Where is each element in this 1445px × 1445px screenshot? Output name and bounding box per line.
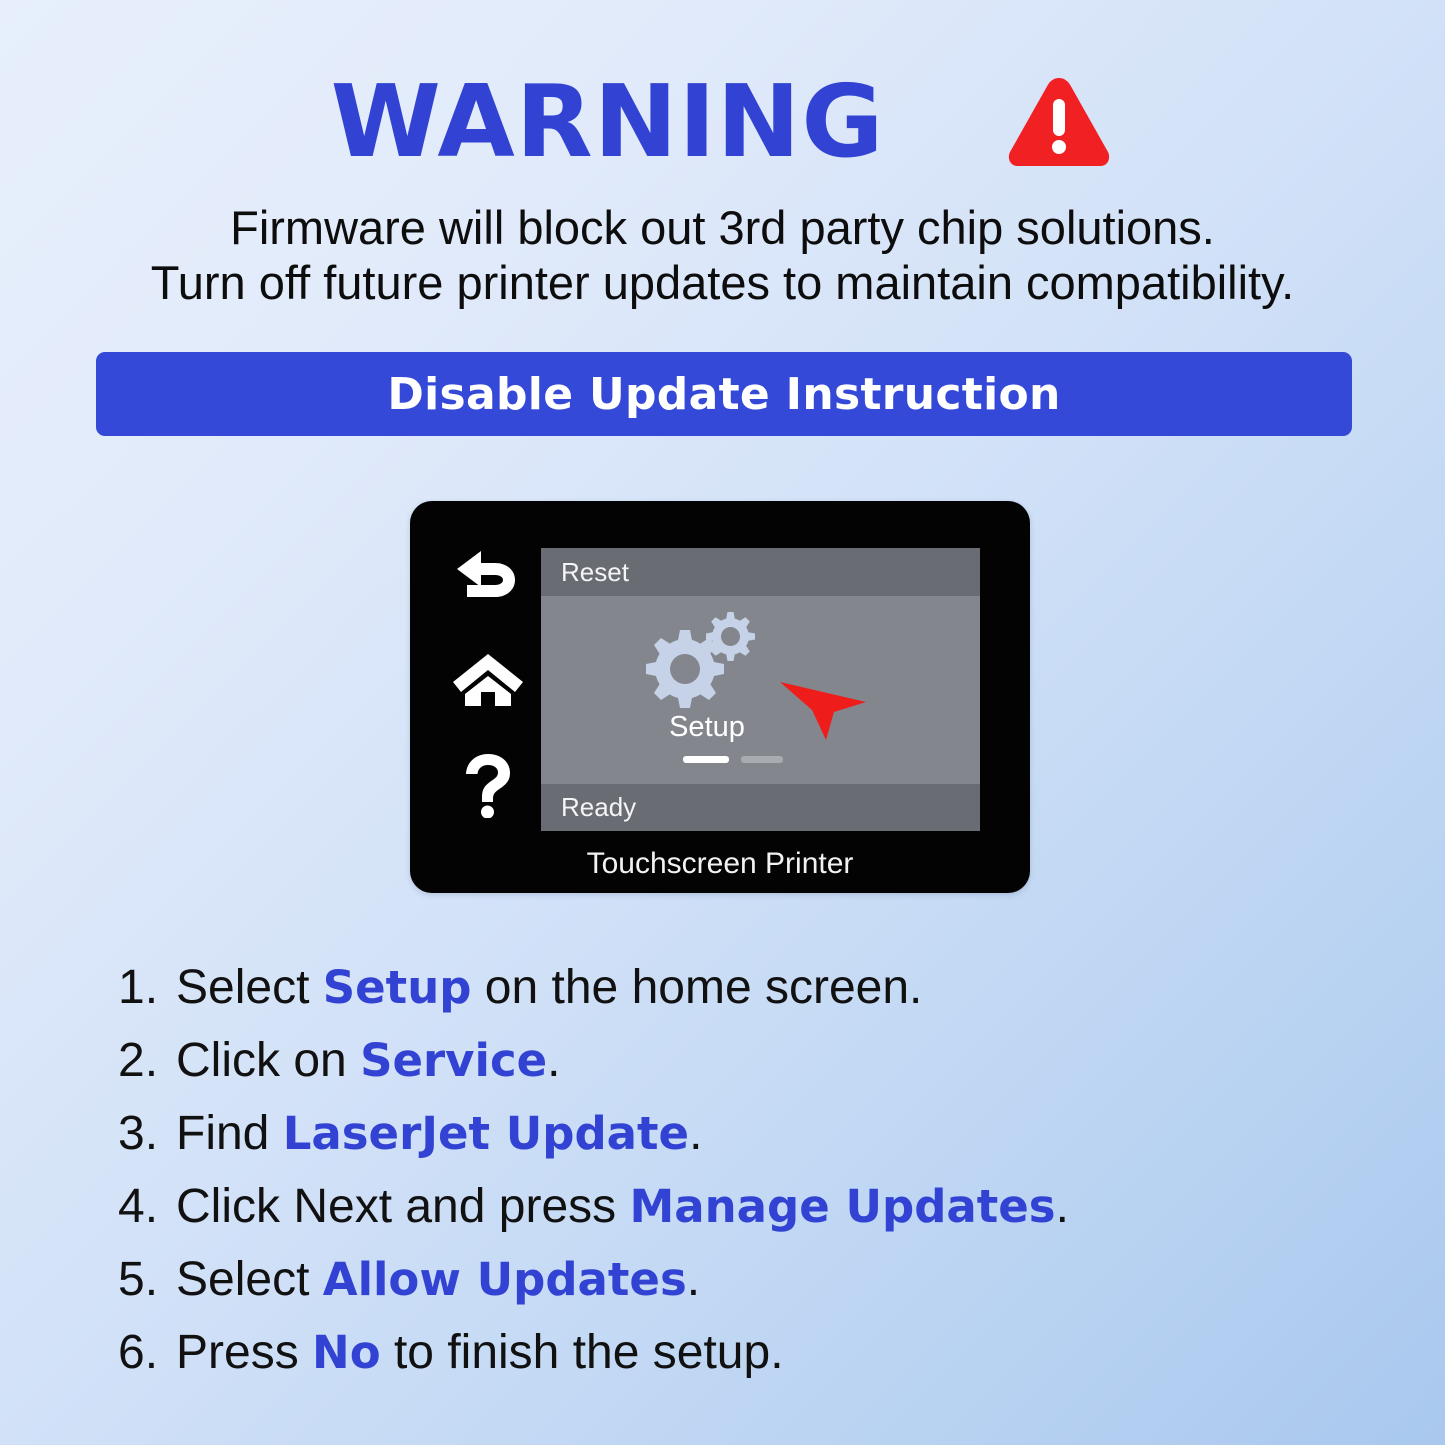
step-text-fragment: Find bbox=[176, 1107, 283, 1160]
step-keyword: Setup bbox=[323, 961, 472, 1014]
step-text: Press No to finish the setup. bbox=[176, 1325, 784, 1380]
pagination-dot-active[interactable] bbox=[683, 756, 729, 763]
step-number: 1. bbox=[118, 960, 176, 1015]
disable-update-instruction-banner[interactable]: Disable Update Instruction bbox=[96, 352, 1352, 436]
back-icon[interactable] bbox=[451, 543, 525, 605]
help-icon[interactable] bbox=[451, 752, 525, 818]
step-text-fragment: . bbox=[687, 1253, 700, 1306]
list-item: 2.Click on Service. bbox=[118, 1033, 1318, 1106]
screen-pagination[interactable] bbox=[683, 756, 813, 763]
step-text-fragment: Click on bbox=[176, 1034, 360, 1087]
step-text-fragment: on the home screen. bbox=[471, 961, 922, 1014]
step-text-fragment: Press bbox=[176, 1326, 312, 1379]
subtitle: Firmware will block out 3rd party chip s… bbox=[0, 200, 1445, 310]
step-text: Click on Service. bbox=[176, 1033, 560, 1088]
page-title: WARNING bbox=[331, 72, 885, 172]
instruction-steps: 1.Select Setup on the home screen.2.Clic… bbox=[118, 960, 1318, 1398]
step-text-fragment: . bbox=[547, 1034, 560, 1087]
setup-tile-label: Setup bbox=[647, 711, 767, 744]
screen-title-bar: Reset bbox=[541, 548, 980, 596]
warning-triangle-icon bbox=[1004, 72, 1114, 172]
step-text-fragment: . bbox=[689, 1107, 702, 1160]
step-keyword: Manage Updates bbox=[630, 1180, 1056, 1233]
step-text-fragment: Click Next and press bbox=[176, 1180, 630, 1233]
device-hardware-keys bbox=[442, 531, 534, 826]
step-number: 2. bbox=[118, 1033, 176, 1088]
step-text-fragment: to finish the setup. bbox=[381, 1326, 784, 1379]
pagination-dot-inactive[interactable] bbox=[741, 756, 783, 763]
screen-body: Setup bbox=[541, 596, 980, 784]
list-item: 4.Click Next and press Manage Updates. bbox=[118, 1179, 1318, 1252]
home-icon[interactable] bbox=[451, 648, 525, 710]
step-text: Select Allow Updates. bbox=[176, 1252, 700, 1307]
list-item: 5.Select Allow Updates. bbox=[118, 1252, 1318, 1325]
step-text: Click Next and press Manage Updates. bbox=[176, 1179, 1069, 1234]
screen-status-bar: Ready bbox=[541, 784, 980, 831]
header: WARNING bbox=[0, 62, 1445, 182]
gears-icon[interactable] bbox=[644, 610, 766, 710]
subtitle-line-1: Firmware will block out 3rd party chip s… bbox=[0, 200, 1445, 255]
list-item: 1.Select Setup on the home screen. bbox=[118, 960, 1318, 1033]
list-item: 3.Find LaserJet Update. bbox=[118, 1106, 1318, 1179]
step-keyword: LaserJet Update bbox=[283, 1107, 689, 1160]
device-caption: Touchscreen Printer bbox=[410, 847, 1030, 881]
step-text: Select Setup on the home screen. bbox=[176, 960, 922, 1015]
list-item: 6.Press No to finish the setup. bbox=[118, 1325, 1318, 1398]
step-number: 4. bbox=[118, 1179, 176, 1234]
step-number: 5. bbox=[118, 1252, 176, 1307]
step-number: 6. bbox=[118, 1325, 176, 1380]
red-arrow-cursor-icon bbox=[776, 670, 868, 742]
banner-label: Disable Update Instruction bbox=[387, 369, 1060, 420]
step-text: Find LaserJet Update. bbox=[176, 1106, 702, 1161]
step-text-fragment: . bbox=[1056, 1180, 1069, 1233]
step-keyword: No bbox=[312, 1326, 381, 1379]
printer-touchscreen[interactable]: Reset Setup bbox=[541, 548, 980, 831]
step-text-fragment: Select bbox=[176, 961, 323, 1014]
step-number: 3. bbox=[118, 1106, 176, 1161]
subtitle-line-2: Turn off future printer updates to maint… bbox=[0, 255, 1445, 310]
step-text-fragment: Select bbox=[176, 1253, 323, 1306]
step-keyword: Allow Updates bbox=[323, 1253, 687, 1306]
printer-device: Reset Setup bbox=[410, 501, 1030, 893]
warning-instruction-page: WARNING Firmware will block out 3rd part… bbox=[0, 0, 1445, 1445]
step-keyword: Service bbox=[360, 1034, 547, 1087]
